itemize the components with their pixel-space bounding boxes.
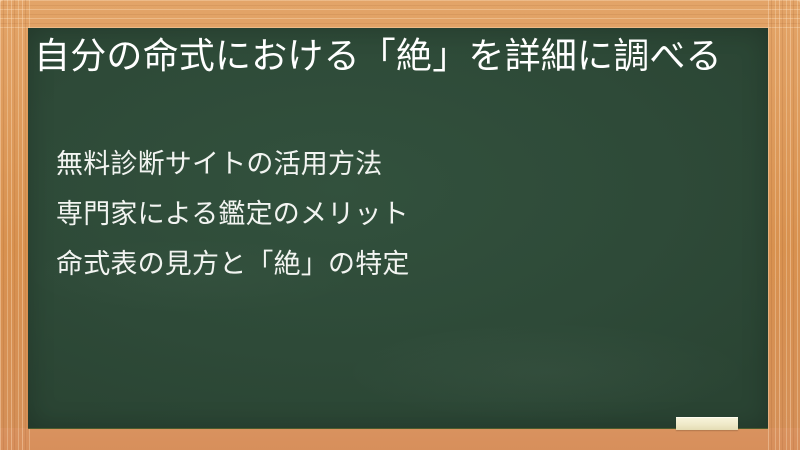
list-item: 専門家による鑑定のメリット <box>56 198 746 230</box>
chalk-eraser-icon <box>676 417 738 430</box>
frame-grain-left <box>0 0 30 450</box>
slide-title: 自分の命式における「絶」を詳細に調べる <box>34 32 734 79</box>
chalkboard-surface: 自分の命式における「絶」を詳細に調べる 無料診断サイトの活用方法 専門家による鑑… <box>28 28 768 428</box>
list-item: 無料診断サイトの活用方法 <box>56 148 746 180</box>
slide-canvas: 自分の命式における「絶」を詳細に調べる 無料診断サイトの活用方法 専門家による鑑… <box>0 0 800 450</box>
frame-grain-top <box>0 0 800 28</box>
frame-grain-right <box>768 0 800 450</box>
list-item: 命式表の見方と「絶」の特定 <box>56 248 746 280</box>
bullet-list: 無料診断サイトの活用方法 専門家による鑑定のメリット 命式表の見方と「絶」の特定 <box>56 148 746 298</box>
frame-grain-bottom <box>0 428 800 450</box>
